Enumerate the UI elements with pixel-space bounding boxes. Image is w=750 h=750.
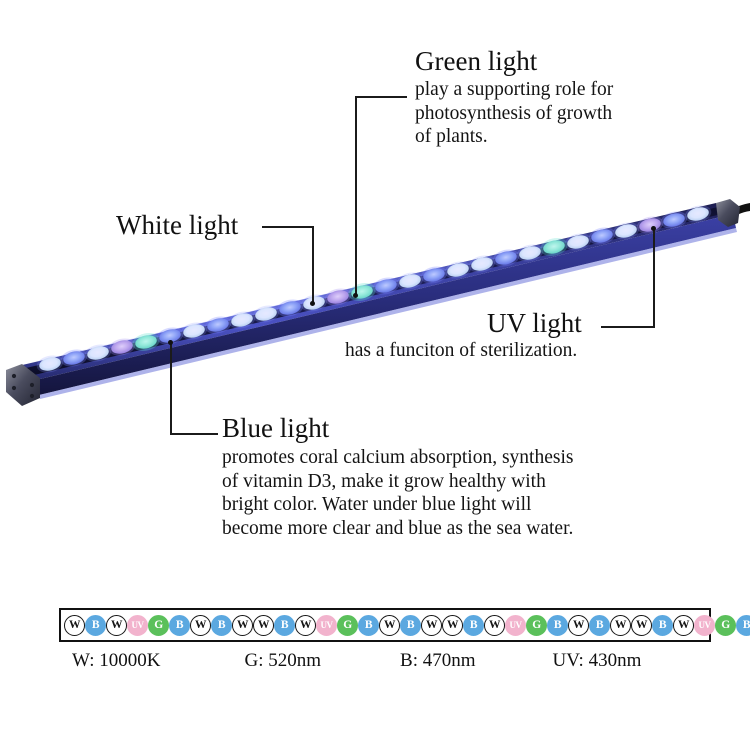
led-chip-w: W (106, 615, 127, 636)
led-chip-label: G (715, 615, 736, 636)
led-chip-w: W (442, 615, 463, 636)
led-chip-w: W (64, 615, 85, 636)
legend-item-value: 430nm (584, 650, 642, 671)
led-chip-label: B (463, 615, 484, 636)
led-chip-w: W (421, 615, 442, 636)
product-photo (0, 180, 750, 410)
callout-green-light: Green light play a supporting role for p… (415, 46, 613, 149)
led-chip-g: G (337, 615, 358, 636)
led-sequence-diagram: WBWUVGBWBWWBWUVGBWBWWBWUVGBWBWWBWUVGBWBW (59, 608, 711, 642)
led-chip-w: W (379, 615, 400, 636)
callout-blue-line-4: become more clear and blue as the sea wa… (222, 517, 573, 541)
leader-green-vertical (355, 96, 357, 296)
led-chip-w: W (673, 615, 694, 636)
callout-green-line-1: play a supporting role for (415, 78, 613, 102)
legend-item-code: B: (400, 650, 418, 671)
led-chip-label: W (484, 615, 505, 636)
leader-blue-vertical (170, 342, 172, 434)
callout-blue-line-3: bright color. Water under blue light wil… (222, 493, 573, 517)
callout-uv-light: UV light has a funciton of sterilization… (345, 308, 582, 363)
callout-green-line-2: photosynthesis of growth (415, 102, 613, 126)
leader-green-anchor (353, 293, 358, 298)
legend-item-g: G: 520nm (245, 650, 322, 672)
led-chip-b: B (169, 615, 190, 636)
led-chip-w: W (484, 615, 505, 636)
leader-white-vertical (312, 226, 314, 304)
led-chip-b: B (463, 615, 484, 636)
leader-white-horizontal (262, 226, 314, 228)
led-chip-b: B (211, 615, 232, 636)
legend-row: W: 10000KG: 520nmB: 470nmUV: 430nm (59, 650, 711, 672)
led-chip-label: B (736, 615, 750, 636)
led-chip-uv: UV (505, 615, 526, 636)
callout-blue-title: Blue light (222, 413, 573, 443)
led-chip-label: W (64, 615, 85, 636)
led-chip-label: W (631, 615, 652, 636)
led-chip-label: B (85, 615, 106, 636)
legend-item-value: 10000K (95, 650, 161, 671)
callout-white-light: White light (116, 210, 238, 240)
leader-uv-anchor (651, 226, 656, 231)
led-chip-label: B (274, 615, 295, 636)
led-chip-label: W (253, 615, 274, 636)
led-chip-label: B (211, 615, 232, 636)
led-chip-uv: UV (127, 615, 148, 636)
leader-blue-anchor (168, 340, 173, 345)
led-chip-g: G (148, 615, 169, 636)
callout-uv-title: UV light (487, 308, 582, 338)
callout-white-title: White light (116, 210, 238, 240)
callout-green-line-3: of plants. (415, 125, 613, 149)
led-chip-label: B (358, 615, 379, 636)
callout-green-title: Green light (415, 46, 613, 76)
led-chip-b: B (652, 615, 673, 636)
legend-item-code: UV: (553, 650, 584, 671)
led-chip-label: UV (127, 615, 148, 636)
callout-green-body: play a supporting role for photosynthesi… (415, 78, 613, 149)
led-chip-label: W (190, 615, 211, 636)
led-chip-w: W (568, 615, 589, 636)
leader-uv-horizontal (601, 326, 655, 328)
led-chip-label: W (442, 615, 463, 636)
led-chip-b: B (736, 615, 750, 636)
led-chip-w: W (253, 615, 274, 636)
led-chip-b: B (274, 615, 295, 636)
legend-item-w: W: 10000K (72, 650, 161, 672)
led-chip-g: G (715, 615, 736, 636)
led-chip-label: W (610, 615, 631, 636)
led-chip-label: W (295, 615, 316, 636)
led-bar-illustration (0, 180, 750, 410)
led-chip-label: B (547, 615, 568, 636)
legend-item-code: G: (245, 650, 264, 671)
led-chip-b: B (589, 615, 610, 636)
led-chip-label: W (421, 615, 442, 636)
led-chip-b: B (358, 615, 379, 636)
led-chip-label: W (568, 615, 589, 636)
led-chip-label: B (589, 615, 610, 636)
led-chip-label: W (232, 615, 253, 636)
led-chip-uv: UV (316, 615, 337, 636)
led-chip-g: G (526, 615, 547, 636)
led-chip-b: B (400, 615, 421, 636)
led-chip-w: W (610, 615, 631, 636)
led-sequence-strip: WBWUVGBWBWWBWUVGBWBWWBWUVGBWBWWBWUVGBWBW (59, 608, 711, 642)
led-chip-uv: UV (694, 615, 715, 636)
led-chip-label: UV (316, 615, 337, 636)
led-chip-label: G (337, 615, 358, 636)
callout-blue-line-2: of vitamin D3, make it grow healthy with (222, 470, 573, 494)
led-chip-label: B (652, 615, 673, 636)
led-chip-w: W (295, 615, 316, 636)
led-chip-label: B (169, 615, 190, 636)
infographic-canvas: Green light play a supporting role for p… (0, 0, 750, 750)
led-chip-b: B (547, 615, 568, 636)
led-chip-label: W (106, 615, 127, 636)
callout-uv-line-1: has a funciton of sterilization. (345, 339, 582, 363)
leader-white-anchor (310, 301, 315, 306)
led-chip-label: W (673, 615, 694, 636)
led-chip-label: B (400, 615, 421, 636)
callout-blue-line-1: promotes coral calcium absorption, synth… (222, 446, 573, 470)
led-chip-w: W (190, 615, 211, 636)
led-chip-label: UV (505, 615, 526, 636)
led-chip-b: B (85, 615, 106, 636)
legend-item-b: B: 470nm (400, 650, 475, 672)
callout-blue-light: Blue light promotes coral calcium absorp… (222, 413, 573, 540)
leader-green-horizontal (355, 96, 407, 98)
callout-blue-body: promotes coral calcium absorption, synth… (222, 446, 573, 540)
led-chip-label: W (379, 615, 400, 636)
legend-item-uv: UV: 430nm (553, 650, 642, 672)
led-chip-label: UV (694, 615, 715, 636)
legend-item-value: 520nm (264, 650, 322, 671)
callout-uv-body: has a funciton of sterilization. (345, 339, 582, 363)
legend-item-code: W: (72, 650, 95, 671)
legend-item-value: 470nm (418, 650, 476, 671)
led-chip-w: W (631, 615, 652, 636)
leader-uv-vertical (653, 228, 655, 327)
leader-blue-horizontal (170, 433, 218, 435)
led-chip-w: W (232, 615, 253, 636)
led-chip-label: G (148, 615, 169, 636)
led-chip-label: G (526, 615, 547, 636)
